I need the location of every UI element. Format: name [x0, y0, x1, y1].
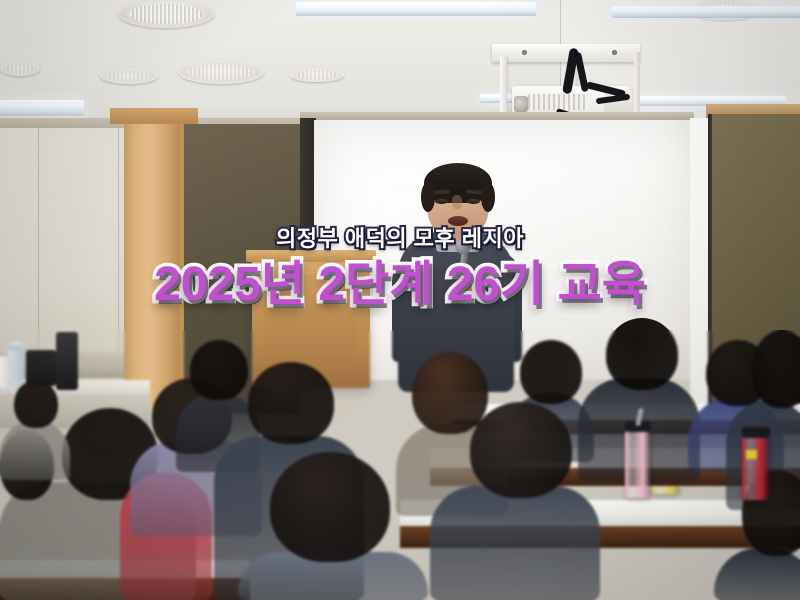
ceiling-downlight	[100, 68, 158, 84]
wall-panel-seam	[118, 128, 119, 354]
attendee-long-hair-head	[412, 352, 488, 434]
ceiling-downlight	[0, 62, 40, 76]
ceiling-fluorescent-strip	[0, 100, 84, 116]
wood-column	[124, 108, 180, 408]
yellow-highlighter	[652, 486, 680, 494]
presenter-hair-side	[421, 182, 435, 212]
podium-front-panel	[264, 274, 356, 370]
attendee-front-curly-head	[270, 452, 390, 562]
attendee-bun-hair-head	[190, 340, 248, 400]
ceiling-downlight	[290, 68, 344, 82]
red-tumbler	[742, 436, 770, 500]
presenter-hair-side	[481, 182, 495, 212]
projector-bolt-icon	[612, 50, 617, 55]
attendee-back-left-head	[14, 380, 58, 428]
presenter-eye	[467, 199, 480, 204]
attendee-puffer-jacket-head	[606, 318, 678, 390]
ceiling-downlight	[118, 0, 214, 28]
attendee-far-right-front-torso	[714, 548, 800, 600]
attendee-grey-front-head	[470, 402, 572, 498]
photo-canvas: 의정부 애덕의 모후 레지아 2025년 2단계 26기 교육	[0, 0, 800, 600]
wood-column-capital	[110, 108, 198, 124]
red-tumbler-label	[746, 450, 757, 459]
clear-water-bottle-cap	[9, 342, 23, 350]
microphone-head	[455, 238, 471, 254]
ceiling-fluorescent-strip	[612, 6, 800, 18]
presenter-nose	[452, 195, 462, 209]
projector-lens	[514, 96, 528, 112]
pink-water-bottle	[625, 430, 651, 498]
desk-monitor	[56, 332, 78, 390]
presenter-hand	[452, 280, 478, 304]
podium-top-ledge	[246, 250, 376, 262]
ceiling-downlight	[178, 60, 264, 84]
presenter-mouth	[448, 216, 468, 226]
projector-bolt-icon	[522, 50, 527, 55]
presenter-eye	[435, 199, 448, 204]
attendee-right-edge-head	[752, 330, 800, 408]
ceiling-fluorescent-strip	[296, 2, 536, 16]
projector-mount-plate	[492, 44, 640, 62]
attendee-scrunchie-head	[520, 340, 582, 404]
ceiling-fluorescent-strip	[480, 94, 516, 103]
attendee-back-left-torso	[0, 420, 70, 480]
red-tumbler-cap	[742, 427, 770, 438]
attendee-grey-front-torso	[430, 486, 600, 600]
paper-cup	[0, 356, 12, 388]
wall-panel-seam	[38, 128, 39, 354]
attendee-center-dark-head	[248, 362, 334, 444]
